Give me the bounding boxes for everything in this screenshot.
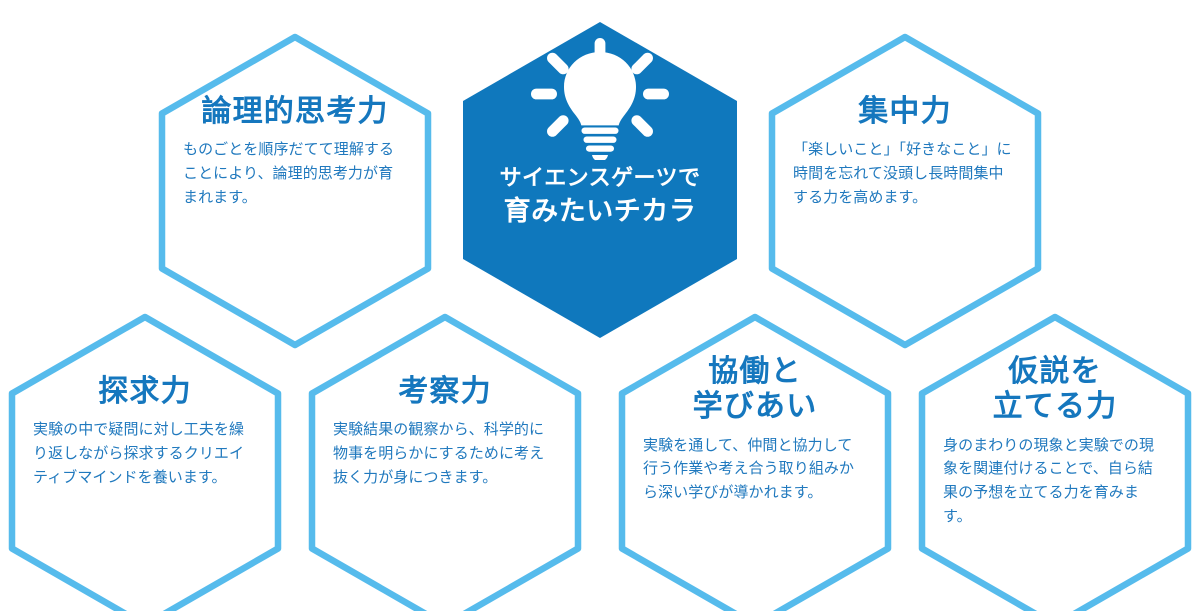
- hexagon-title-kyodo: 協働と 学びあい: [643, 354, 867, 425]
- hexagon-body-shuchu: 「楽しいこと」「好きなこと」に時間を忘れて没頭し長時間集中する力を高めます。: [793, 138, 1017, 209]
- hexagon-title-tankyu: 探求力: [33, 374, 257, 409]
- center-caption-line2: 育みたいチカラ: [500, 194, 701, 229]
- hexagon-card-tankyu[interactable]: 探求力 実験の中で疑問に対し工夫を繰り返しながら探求するクリエイティブマインドを…: [7, 312, 283, 611]
- hexagon-title-ronri: 論理的思考力: [183, 94, 407, 129]
- hexagon-body-kasetsu: 身のまわりの現象と実験での現象を関連付けることで、自ら結果の予想を立てる力を育み…: [943, 434, 1167, 529]
- hexagon-card-ronri[interactable]: 論理的思考力 ものごとを順序だてて理解することにより、論理的思考力が育まれます。: [157, 32, 433, 350]
- center-caption: サイエンスゲーツで 育みたいチカラ: [500, 164, 701, 229]
- hexagon-title-kasetsu: 仮説を 立てる力: [943, 354, 1167, 425]
- hexagon-card-kosatsu[interactable]: 考察力 実験結果の観察から、科学的に物事を明らかにするために考え抜く力が身につき…: [307, 312, 583, 611]
- lightbulb-icon: [530, 38, 670, 160]
- hexagon-card-center[interactable]: サイエンスゲーツで 育みたいチカラ: [461, 20, 739, 340]
- hexagon-title-kosatsu: 考察力: [333, 374, 557, 409]
- hexagon-body-ronri: ものごとを順序だてて理解することにより、論理的思考力が育まれます。: [183, 138, 407, 209]
- hexagon-card-shuchu[interactable]: 集中力 「楽しいこと」「好きなこと」に時間を忘れて没頭し長時間集中する力を高めま…: [767, 32, 1043, 350]
- hexagon-body-kyodo: 実験を通して、仲間と協力して行う作業や考え合う取り組みから深い学びが導かれます。: [643, 434, 867, 505]
- hexagon-skills-diagram: 論理的思考力 ものごとを順序だてて理解することにより、論理的思考力が育まれます。…: [0, 0, 1200, 611]
- hexagon-title-shuchu: 集中力: [793, 94, 1017, 129]
- hexagon-card-kasetsu[interactable]: 仮説を 立てる力 身のまわりの現象と実験での現象を関連付けることで、自ら結果の予…: [917, 312, 1193, 611]
- hexagon-card-kyodo[interactable]: 協働と 学びあい 実験を通して、仲間と協力して行う作業や考え合う取り組みから深い…: [617, 312, 893, 611]
- hexagon-body-kosatsu: 実験結果の観察から、科学的に物事を明らかにするために考え抜く力が身につきます。: [333, 418, 557, 489]
- hexagon-body-tankyu: 実験の中で疑問に対し工夫を繰り返しながら探求するクリエイティブマインドを養います…: [33, 418, 257, 489]
- center-caption-line1: サイエンスゲーツで: [500, 164, 701, 192]
